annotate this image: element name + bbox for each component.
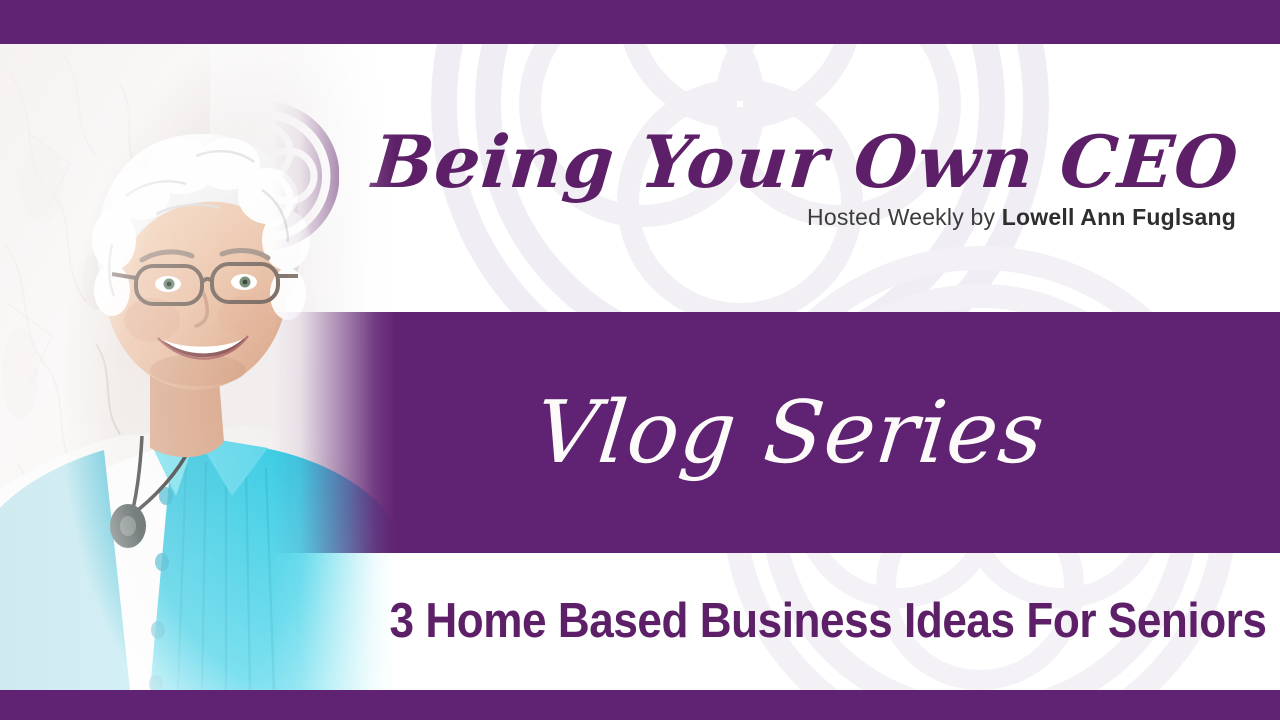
- bottom-purple-bar: [0, 690, 1280, 720]
- host-photo: [0, 44, 400, 690]
- video-title-card: Being Your Own CEO Hosted Weekly by Lowe…: [0, 0, 1280, 720]
- top-purple-bar: [0, 0, 1280, 44]
- vlog-series-title: Vlog Series: [531, 390, 1048, 476]
- brand-tagline: Hosted Weekly by Lowell Ann Fuglsang: [807, 204, 1236, 231]
- brand-wordmark: Being Your Own CEO: [369, 125, 1241, 198]
- tagline-host-name: Lowell Ann Fuglsang: [1002, 204, 1236, 230]
- episode-title: 3 Home Based Business Ideas For Seniors: [389, 597, 1266, 646]
- content-canvas: Being Your Own CEO Hosted Weekly by Lowe…: [0, 44, 1280, 690]
- wordmark-block: Being Your Own CEO Hosted Weekly by Lowe…: [373, 125, 1238, 231]
- tagline-prefix: Hosted Weekly by: [807, 204, 1002, 230]
